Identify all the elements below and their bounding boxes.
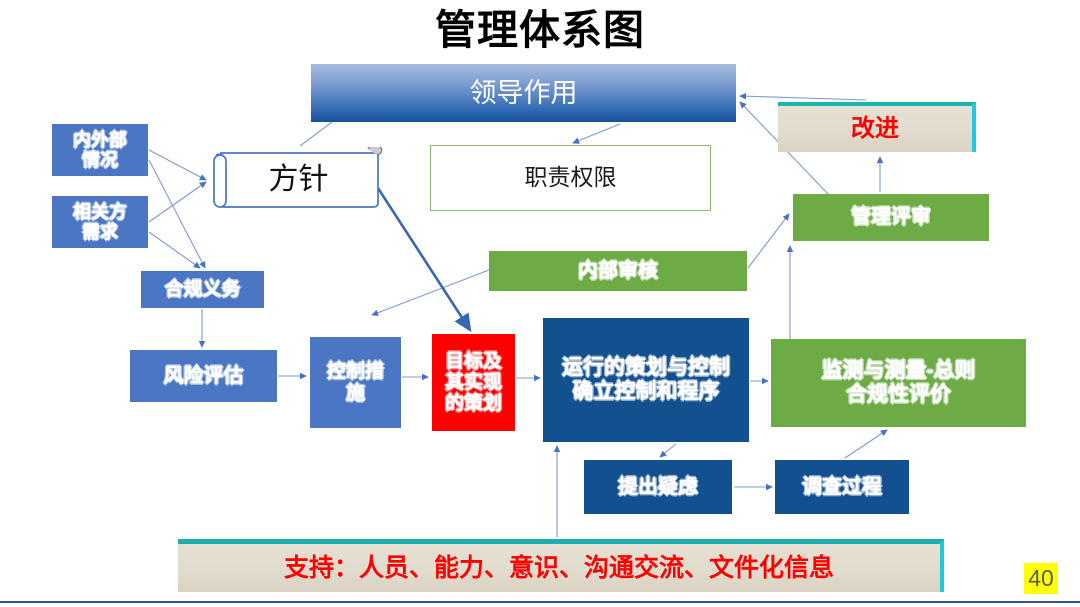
node-internal-audit[interactable]: 内部审核: [489, 251, 747, 291]
page-number: 40: [1024, 563, 1058, 594]
node-internal-external-context-line2: 情况: [73, 150, 127, 170]
node-objectives-planning-line1: 目标及: [445, 351, 502, 372]
node-raise-concern[interactable]: 提出疑虑: [584, 460, 732, 514]
node-monitoring-measurement-line1: 监测与测量-总则: [822, 359, 976, 383]
node-compliance-obligations[interactable]: 合规义务: [141, 271, 264, 308]
node-control-measures-line2: 施: [327, 383, 384, 404]
node-interested-party-needs-line1: 相关方: [73, 202, 127, 222]
node-operational-planning-control[interactable]: 运行的策划与控制 确立控制和程序: [543, 318, 749, 442]
node-policy[interactable]: 方针: [210, 147, 387, 213]
node-management-review[interactable]: 管理评审: [793, 194, 989, 241]
node-responsibility-authority-label: 职责权限: [525, 165, 617, 191]
node-monitoring-measurement[interactable]: 监测与测量-总则 合规性评价: [771, 339, 1026, 427]
node-risk-assessment-label: 风险评估: [164, 365, 244, 387]
node-investigation-process-label: 调查过程: [802, 476, 882, 498]
node-operational-planning-control-line2: 确立控制和程序: [562, 380, 730, 404]
node-policy-label: 方针: [269, 163, 329, 197]
node-internal-external-context[interactable]: 内外部 情况: [52, 124, 148, 176]
node-operational-planning-control-line1: 运行的策划与控制: [562, 356, 730, 380]
node-control-measures[interactable]: 控制措 施: [310, 337, 401, 428]
node-improvement[interactable]: 改进: [778, 102, 976, 152]
node-internal-audit-label: 内部审核: [578, 260, 658, 282]
node-risk-assessment[interactable]: 风险评估: [130, 350, 277, 402]
node-raise-concern-label: 提出疑虑: [618, 476, 698, 498]
node-interested-party-needs[interactable]: 相关方 需求: [52, 196, 148, 248]
node-compliance-obligations-label: 合规义务: [164, 279, 240, 300]
bottom-divider: [0, 601, 1080, 603]
node-monitoring-measurement-line2: 合规性评价: [822, 383, 976, 407]
node-leadership[interactable]: 领导作用: [311, 64, 736, 122]
node-support-banner[interactable]: 支持：人员、能力、意识、沟通交流、文件化信息: [178, 539, 944, 592]
node-investigation-process[interactable]: 调查过程: [775, 460, 909, 514]
node-objectives-planning-line3: 的策划: [445, 393, 502, 414]
node-management-review-label: 管理评审: [851, 206, 931, 228]
node-leadership-label: 领导作用: [470, 78, 578, 108]
node-support-banner-label: 支持：人员、能力、意识、沟通交流、文件化信息: [284, 554, 834, 582]
node-objectives-planning-line2: 其实现: [445, 372, 502, 393]
node-objectives-planning[interactable]: 目标及 其实现 的策划: [432, 334, 515, 431]
node-internal-external-context-line1: 内外部: [73, 130, 127, 150]
slide-canvas: 管理体系图: [0, 0, 1080, 607]
node-interested-party-needs-line2: 需求: [73, 222, 127, 242]
node-improvement-label: 改进: [851, 116, 899, 143]
node-responsibility-authority[interactable]: 职责权限: [430, 145, 711, 211]
page-title: 管理体系图: [0, 0, 1080, 56]
node-control-measures-line1: 控制措: [327, 361, 384, 382]
